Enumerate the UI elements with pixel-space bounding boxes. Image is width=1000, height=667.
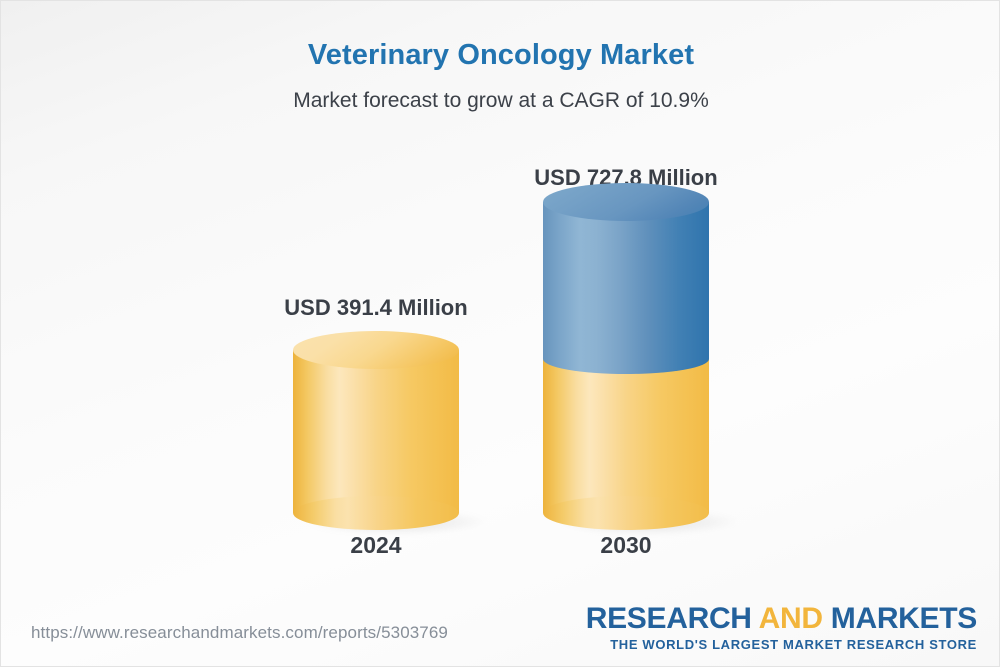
chart-subtitle: Market forecast to grow at a CAGR of 10.… bbox=[1, 89, 1000, 113]
cylinder-segment-growth-2030 bbox=[543, 202, 709, 359]
logo-tagline: THE WORLD'S LARGEST MARKET RESEARCH STOR… bbox=[586, 637, 977, 653]
cylinder-bar-2030 bbox=[543, 183, 709, 531]
logo-word-and: AND bbox=[759, 602, 823, 635]
source-url[interactable]: https://www.researchandmarkets.com/repor… bbox=[31, 623, 448, 643]
logo-word-markets: MARKETS bbox=[831, 602, 977, 635]
category-label-2030: 2030 bbox=[526, 532, 726, 559]
cylinder-bar-2024 bbox=[293, 331, 459, 531]
data-label-2024: USD 391.4 Million bbox=[191, 295, 561, 321]
logo-word-research: RESEARCH bbox=[586, 602, 752, 635]
cylinder-bottom-cap-2030 bbox=[543, 496, 709, 530]
cylinder-bottom-cap-2024 bbox=[293, 496, 459, 530]
cylinder-top-cap-2030 bbox=[543, 183, 709, 221]
brand-logo[interactable]: RESEARCH AND MARKETS THE WORLD'S LARGEST… bbox=[586, 603, 977, 653]
category-label-2024: 2024 bbox=[276, 532, 476, 559]
cylinder-top-cap-2024 bbox=[293, 331, 459, 369]
cylinder-body-2024 bbox=[293, 350, 459, 513]
cylinder-segment-divider-2030 bbox=[543, 344, 709, 374]
logo-wordmark: RESEARCH AND MARKETS bbox=[586, 603, 977, 634]
infographic-canvas: Veterinary Oncology Market Market foreca… bbox=[0, 0, 1000, 667]
page-title: Veterinary Oncology Market bbox=[1, 39, 1000, 72]
